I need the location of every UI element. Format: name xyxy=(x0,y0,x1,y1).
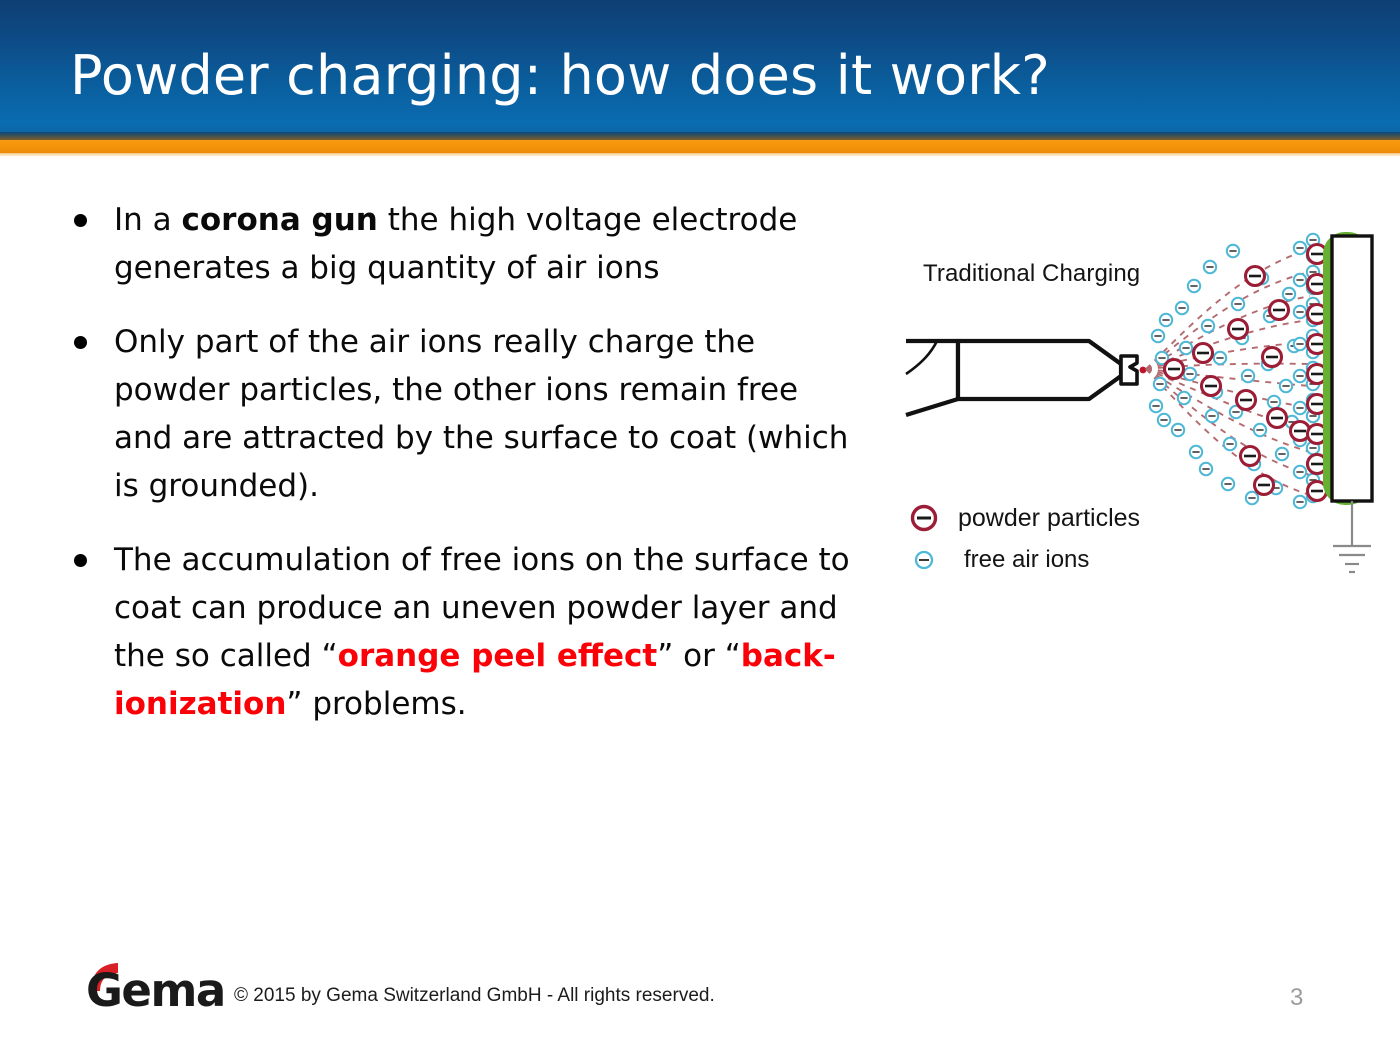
bullet-partial-charging: Only part of the air ions really charge … xyxy=(114,324,848,504)
bullet-text-run: In a xyxy=(114,202,182,238)
diagram-legend: powder particles free air ions xyxy=(902,497,1140,581)
bullet-list: In a corona gun the high voltage electro… xyxy=(62,196,862,754)
bullet-orange-peel: The accumulation of free ions on the sur… xyxy=(114,542,850,722)
legend-label: free air ions xyxy=(964,546,1089,574)
bullet-text-run: Only part of the air ions really charge … xyxy=(114,324,848,504)
logo-wordmark: Gema xyxy=(86,964,225,1017)
spray-gun-icon xyxy=(906,341,1137,415)
copyright-text: © 2015 by Gema Switzerland GmbH - All ri… xyxy=(234,985,715,1007)
powder-particle-symbol-icon xyxy=(902,503,946,533)
bullet-dot-icon xyxy=(74,336,87,349)
bullet-corona-gun: In a corona gun the high voltage electro… xyxy=(114,202,797,286)
grounded-panel xyxy=(1323,232,1372,505)
bullet-dot-icon xyxy=(74,554,87,567)
bullet-text-run: ” problems. xyxy=(286,686,466,722)
accent-bar-glow xyxy=(0,153,1400,157)
list-item: Only part of the air ions really charge … xyxy=(62,318,862,510)
gema-logo: Gema xyxy=(84,962,219,1018)
traditional-charging-diagram: Traditional Charging xyxy=(890,216,1390,588)
legend-item-powder-particles: powder particles xyxy=(902,497,1140,539)
bullet-highlight-run: orange peel effect xyxy=(338,638,658,674)
bullet-text-run: ” or “ xyxy=(657,638,741,674)
accent-bar xyxy=(0,140,1400,153)
list-item: The accumulation of free ions on the sur… xyxy=(62,536,862,728)
page-number: 3 xyxy=(1290,984,1303,1012)
list-item: In a corona gun the high voltage electro… xyxy=(62,196,862,292)
legend-label: powder particles xyxy=(958,504,1140,533)
diagram-title: Traditional Charging xyxy=(923,260,1140,288)
free-air-ion-symbol-icon xyxy=(902,549,946,571)
electrode-tip-icon xyxy=(1140,367,1147,374)
page-title: Powder charging: how does it work? xyxy=(70,48,1050,105)
legend-item-free-air-ions: free air ions xyxy=(902,539,1140,581)
ground-symbol xyxy=(1333,501,1371,572)
bullet-bold-run: corona gun xyxy=(182,202,378,238)
bullet-dot-icon xyxy=(74,214,87,227)
